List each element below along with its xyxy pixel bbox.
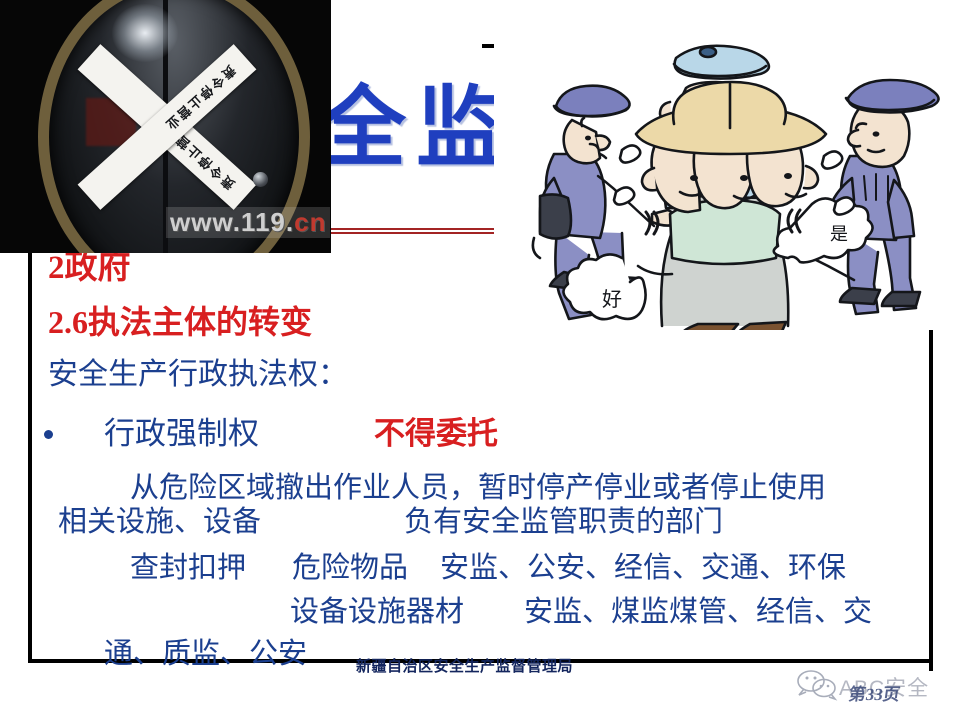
content-line-3: 查封扣押 — [130, 554, 246, 583]
content-line-1: 从危险区域撤出作业人员，暂时停产停业或者停止使用 — [130, 474, 826, 503]
content-line-5: 通、质监、公安 — [104, 640, 307, 669]
wechat-icon — [795, 668, 839, 702]
bullet-note: 不得委托 — [374, 418, 498, 449]
door-handle-knob — [253, 172, 268, 187]
sealed-door-photo: 责令停止营业 责令停止营业 www.119.cn — [0, 0, 331, 253]
photo-watermark-suffix: cn — [294, 207, 326, 237]
presentation-slide: 全监 责令停止营业 责令停止营业 www.119.cn — [0, 0, 960, 720]
abc-safety-watermark: ABC安全 第33页 — [795, 668, 940, 710]
photo-watermark-prefix: www.119. — [170, 207, 294, 237]
door-glare — [112, 4, 178, 62]
content-line-3b: 危险物品 — [292, 554, 408, 583]
bullet-marker — [44, 430, 53, 439]
content-line-4b: 安监、煤监煤管、经信、交 — [524, 598, 872, 627]
page-number: 第33页 — [847, 680, 902, 705]
bullet-label: 行政强制权 — [104, 418, 259, 449]
content-heading-2: 2.6执法主体的转变 — [48, 306, 312, 338]
photo-watermark: www.119.cn — [166, 207, 330, 238]
content-subheading: 安全生产行政执法权： — [48, 360, 348, 390]
content-line-3c: 安监、公安、经信、交通、环保 — [440, 554, 846, 583]
content-line-2b: 负有安全监管职责的部门 — [404, 508, 723, 537]
content-heading-1: 2政府 — [48, 252, 131, 285]
content-line-4: 设备设施器材 — [290, 598, 464, 627]
content-line-2: 相关设施、设备 — [58, 508, 261, 537]
footer-organization: 新疆自治区安全生产监督管理局 — [356, 655, 573, 676]
